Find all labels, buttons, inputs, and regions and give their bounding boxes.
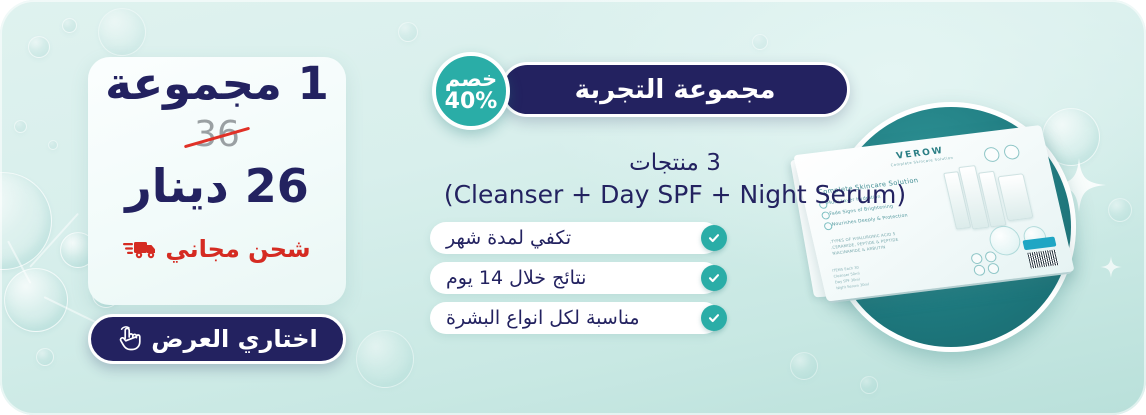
feature-item: نتائج خلال 14 يوم	[430, 262, 720, 294]
product-seal-badge	[970, 253, 983, 265]
discount-percent: 40%	[445, 91, 498, 113]
check-circle-icon	[701, 265, 727, 291]
promo-banner: Verrow Day Night Skin Care Kit VEROW Com…	[0, 0, 1146, 415]
bubble-decoration	[356, 330, 414, 388]
delivery-truck-icon	[123, 237, 157, 261]
product-seal-badge	[984, 251, 997, 263]
check-circle-icon	[701, 225, 727, 251]
feature-item: تكفي لمدة شهر	[430, 222, 720, 254]
bubble-decoration	[14, 120, 27, 133]
new-price: 26 دينار	[88, 163, 346, 209]
check-circle-icon	[701, 305, 727, 331]
offer-card: 1 مجموعة 36 26 دينار شحن مجاني	[88, 57, 346, 305]
barcode-graphic	[1027, 249, 1059, 268]
old-price: 36	[190, 117, 244, 153]
choose-offer-button[interactable]: اختاري العرض	[88, 314, 346, 364]
discount-badge: خصم 40%	[432, 52, 510, 130]
old-price-value: 36	[194, 114, 240, 155]
old-price-container: 36	[88, 117, 346, 161]
feature-label: نتائج خلال 14 يوم	[446, 267, 586, 289]
bubble-decoration	[98, 8, 146, 56]
bubble-decoration	[28, 36, 50, 58]
bubble-decoration	[398, 22, 418, 42]
bubble-decoration	[36, 348, 54, 366]
product-seal-badge	[983, 146, 1001, 162]
set-title: مجموعة التجربة	[575, 75, 776, 105]
product-seal-badge	[973, 264, 986, 276]
free-shipping-label: شحن مجاني	[165, 235, 310, 263]
bubble-decoration	[62, 18, 77, 33]
product-image: Verrow Day Night Skin Care Kit VEROW Com…	[790, 92, 1120, 382]
pointing-hand-click-icon	[116, 325, 142, 353]
discount-word: خصم	[445, 69, 497, 90]
bubble-decoration	[48, 140, 58, 150]
product-seal-badge	[1003, 144, 1021, 160]
set-title-bar: مجموعة التجربة	[500, 62, 850, 117]
bubble-decoration	[0, 172, 52, 270]
offer-headline: 1 مجموعة	[88, 61, 346, 106]
feature-list: تكفي لمدة شهر نتائج خلال 14 يوم مناسبة ل…	[430, 222, 720, 342]
bubble-decoration	[4, 268, 68, 332]
feature-item: مناسبة لكل انواع البشرة	[430, 302, 720, 334]
product-count-label: 3 منتجات	[460, 150, 890, 176]
product-seal-badge	[987, 263, 1000, 275]
bubble-decoration	[752, 34, 768, 50]
product-box-bullet: Nourishes Deeply & Protection	[832, 213, 909, 227]
free-shipping-row: شحن مجاني	[88, 235, 346, 263]
feature-label: مناسبة لكل انواع البشرة	[446, 307, 640, 329]
feature-label: تكفي لمدة شهر	[446, 227, 571, 249]
choose-offer-label: اختاري العرض	[151, 325, 318, 353]
product-list-label: (Cleanser + Day SPF + Night Serum)	[430, 180, 920, 209]
